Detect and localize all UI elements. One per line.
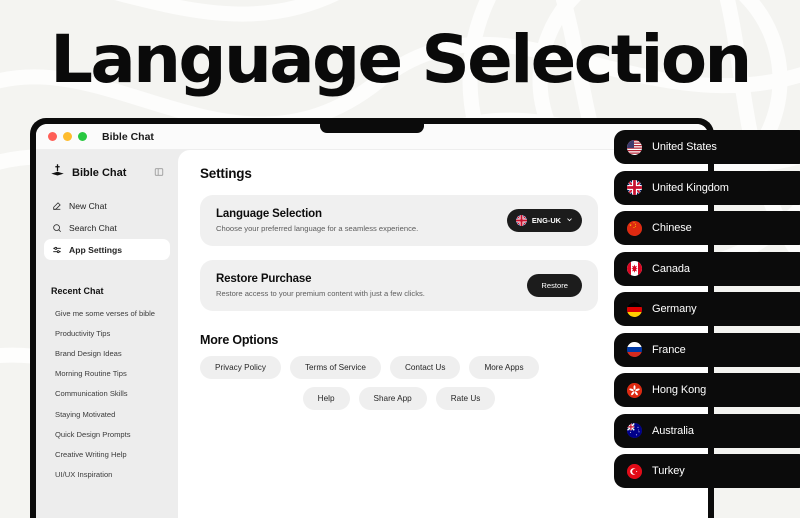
recent-chat-list: Give me some verses of bible Productivit…	[44, 303, 170, 485]
rate-us-button[interactable]: Rate Us	[436, 387, 496, 410]
page-title: Language Selection	[50, 21, 750, 98]
language-label: Chinese	[652, 222, 692, 234]
language-label: United States	[652, 141, 717, 153]
maximize-button[interactable]	[78, 132, 87, 141]
sidebar-item-label: New Chat	[69, 201, 107, 211]
device-notch	[320, 118, 424, 133]
sidebar-nav: New Chat Search Chat	[44, 195, 170, 260]
list-item[interactable]: Give me some verses of bible	[44, 303, 170, 323]
language-label: Turkey	[652, 465, 685, 477]
tr-flag-icon	[627, 464, 642, 479]
recent-chat-heading: Recent Chat	[44, 286, 170, 296]
hero-header: Language Selection	[0, 0, 800, 118]
card-subtitle: Restore access to your premium content w…	[216, 289, 425, 298]
list-item[interactable]: Creative Writing Help	[44, 444, 170, 464]
privacy-policy-button[interactable]: Privacy Policy	[200, 356, 281, 379]
language-option-germany[interactable]: Germany	[614, 292, 800, 326]
card-subtitle: Choose your preferred language for a sea…	[216, 224, 418, 233]
sidebar-item-app-settings[interactable]: App Settings	[44, 239, 170, 260]
card-text: Language Selection Choose your preferred…	[216, 208, 418, 233]
language-option-chinese[interactable]: Chinese	[614, 211, 800, 245]
laptop-frame: Bible Chat Bible Chat	[30, 118, 714, 518]
cross-book-icon	[50, 163, 65, 183]
list-item[interactable]: Morning Routine Tips	[44, 364, 170, 384]
sidebar-item-search-chat[interactable]: Search Chat	[44, 217, 170, 238]
list-item[interactable]: Productivity Tips	[44, 323, 170, 343]
edit-square-icon	[51, 200, 62, 211]
au-flag-icon	[627, 423, 642, 438]
us-flag-icon	[627, 140, 642, 155]
sliders-icon	[51, 244, 62, 255]
sidebar-item-label: Search Chat	[69, 223, 117, 233]
restore-button[interactable]: Restore	[527, 274, 582, 297]
ru-flag-icon	[627, 342, 642, 357]
list-item[interactable]: Communication Skills	[44, 384, 170, 404]
card-text: Restore Purchase Restore access to your …	[216, 273, 425, 298]
language-dropdown-label: ENG-UK	[532, 216, 561, 225]
language-label: Australia	[652, 425, 694, 437]
language-option-turkey[interactable]: Turkey	[614, 454, 800, 488]
card-title: Language Selection	[216, 208, 418, 220]
language-label: Canada	[652, 263, 690, 275]
window-title: Bible Chat	[102, 131, 154, 143]
search-icon	[51, 222, 62, 233]
language-label: Germany	[652, 303, 697, 315]
list-item[interactable]: Quick Design Prompts	[44, 424, 170, 444]
language-option-france[interactable]: France	[614, 333, 800, 367]
close-button[interactable]	[48, 132, 57, 141]
card-title: Restore Purchase	[216, 273, 425, 285]
language-label: France	[652, 344, 686, 356]
panel-toggle-icon[interactable]	[154, 164, 164, 182]
language-option-hong-kong[interactable]: Hong Kong	[614, 373, 800, 407]
chevron-down-icon	[566, 216, 573, 225]
list-item[interactable]: Brand Design Ideas	[44, 343, 170, 363]
share-app-button[interactable]: Share App	[359, 387, 427, 410]
language-label: United Kingdom	[652, 182, 729, 194]
uk-flag-icon	[516, 215, 527, 226]
language-option-united-states[interactable]: United States	[614, 130, 800, 164]
help-button[interactable]: Help	[303, 387, 350, 410]
list-item[interactable]: UI/UX Inspiration	[44, 465, 170, 485]
language-option-australia[interactable]: Australia	[614, 414, 800, 448]
sidebar: Bible Chat New Chat	[36, 150, 178, 518]
terms-of-service-button[interactable]: Terms of Service	[290, 356, 381, 379]
brand: Bible Chat	[44, 160, 170, 183]
more-options-row-1: Privacy Policy Terms of Service Contact …	[200, 356, 598, 379]
language-label: Hong Kong	[652, 384, 706, 396]
more-options-row-2: Help Share App Rate Us	[200, 387, 598, 410]
language-option-united-kingdom[interactable]: United Kingdom	[614, 171, 800, 205]
sidebar-item-label: App Settings	[69, 245, 122, 255]
more-apps-button[interactable]: More Apps	[469, 356, 538, 379]
de-flag-icon	[627, 302, 642, 317]
contact-us-button[interactable]: Contact Us	[390, 356, 461, 379]
language-list-panel: United States United Kingdom Chinese Can…	[614, 130, 800, 488]
language-dropdown-button[interactable]: ENG-UK	[507, 209, 582, 232]
app-screen: Bible Chat Bible Chat	[36, 124, 708, 518]
cn-flag-icon	[627, 221, 642, 236]
minimize-button[interactable]	[63, 132, 72, 141]
ca-flag-icon	[627, 261, 642, 276]
restore-purchase-card: Restore Purchase Restore access to your …	[200, 260, 598, 311]
list-item[interactable]: Staying Motivated	[44, 404, 170, 424]
app-body: Bible Chat New Chat	[36, 150, 708, 518]
uk-flag-icon	[627, 180, 642, 195]
brand-label: Bible Chat	[72, 167, 147, 179]
language-option-canada[interactable]: Canada	[614, 252, 800, 286]
language-selection-card: Language Selection Choose your preferred…	[200, 195, 598, 246]
sidebar-item-new-chat[interactable]: New Chat	[44, 195, 170, 216]
hk-flag-icon	[627, 383, 642, 398]
